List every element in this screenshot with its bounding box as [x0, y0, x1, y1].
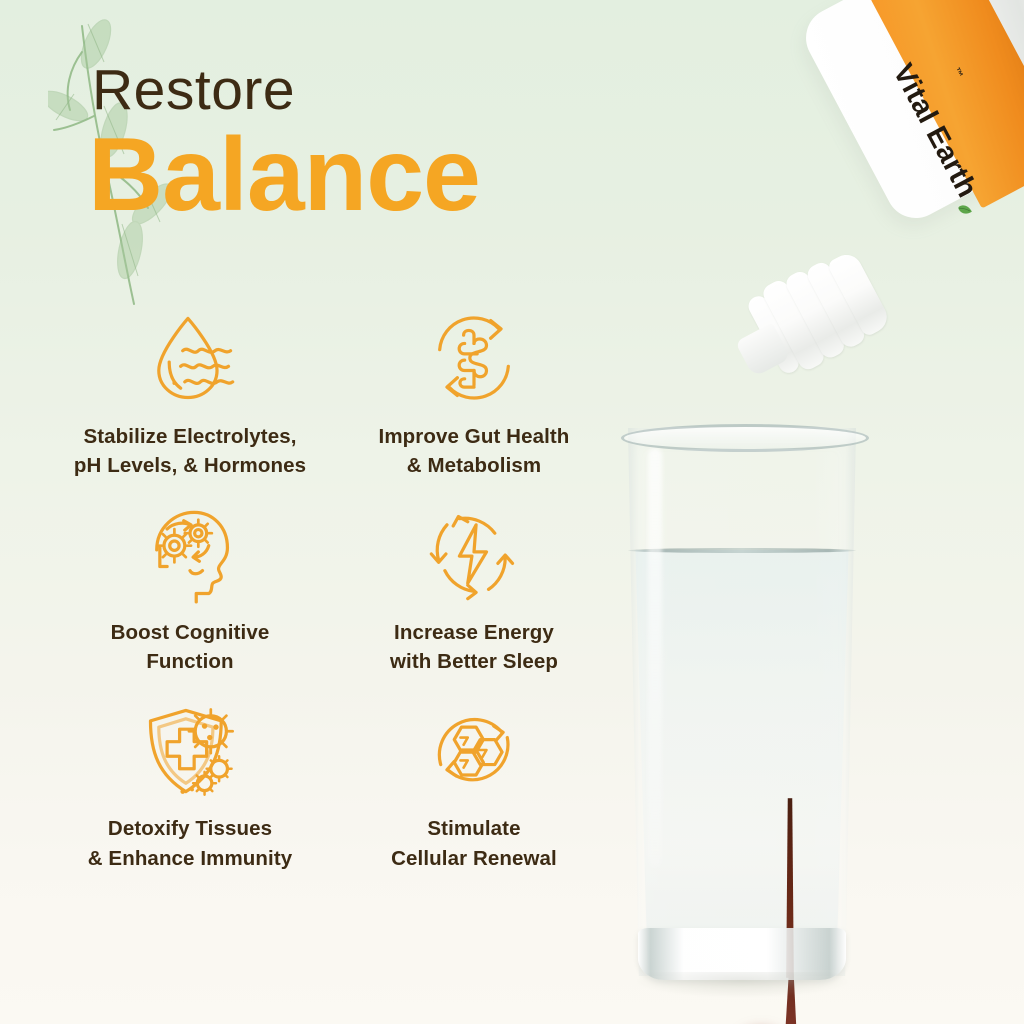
glass-base [638, 928, 846, 980]
glass-shadow [630, 972, 854, 998]
drinking-glass [622, 428, 862, 988]
marketing-graphic: Restore Balance Stabilize Electrolytes, … [0, 0, 1024, 1024]
honeycomb-cells-cycle-icon [422, 698, 526, 802]
glass-rim [621, 424, 869, 452]
shield-cross-germs-icon [138, 698, 242, 802]
brand-name: Vital Earth [881, 56, 1018, 262]
benefit-caption: Detoxify Tissues & Enhance Immunity [88, 814, 293, 872]
bottle-label [870, 0, 1024, 208]
benefit-caption: Stimulate Cellular Renewal [391, 814, 557, 872]
brand-trademark: ™ [950, 66, 965, 80]
head-gears-cognitive-icon [138, 502, 242, 606]
benefits-grid: Stabilize Electrolytes, pH Levels, & Hor… [52, 300, 612, 883]
benefit-item: Improve Gut Health & Metabolism [336, 300, 612, 490]
headline-line-1: Restore [92, 62, 608, 119]
water-surface-line [628, 548, 856, 553]
lightning-bolt-cycle-icon [422, 502, 526, 606]
glass-water [631, 550, 853, 970]
benefit-caption: Boost Cognitive Function [111, 618, 270, 676]
bottle-body [795, 0, 1024, 229]
green-leaf-icon [964, 195, 984, 215]
glass-body [622, 428, 862, 976]
liquid-stream [782, 798, 798, 978]
bottle-spout [735, 322, 791, 377]
brand-text-vital: Vital Earth [886, 59, 984, 204]
product-bottle: Vital Earth ™ [724, 0, 1024, 400]
glass-highlight [648, 448, 662, 868]
benefit-caption: Improve Gut Health & Metabolism [379, 422, 570, 480]
gut-intestines-cycle-icon [422, 306, 526, 410]
liquid-stream-submerged [780, 973, 802, 1024]
headline-line-2: Balance [88, 121, 608, 229]
bottle-neck [743, 237, 905, 384]
benefit-item: Stimulate Cellular Renewal [336, 692, 612, 882]
benefit-item: Stabilize Electrolytes, pH Levels, & Hor… [52, 300, 328, 490]
benefit-item: Boost Cognitive Function [52, 496, 328, 686]
benefit-item: Increase Energy with Better Sleep [336, 496, 612, 686]
product-photo: Vital Earth ™ [604, 0, 1024, 1024]
benefit-caption: Increase Energy with Better Sleep [390, 618, 558, 676]
benefit-item: Detoxify Tissues & Enhance Immunity [52, 692, 328, 882]
benefit-caption: Stabilize Electrolytes, pH Levels, & Hor… [74, 422, 306, 480]
headline-block: Restore Balance [88, 62, 608, 229]
water-droplet-waves-icon [138, 306, 242, 410]
